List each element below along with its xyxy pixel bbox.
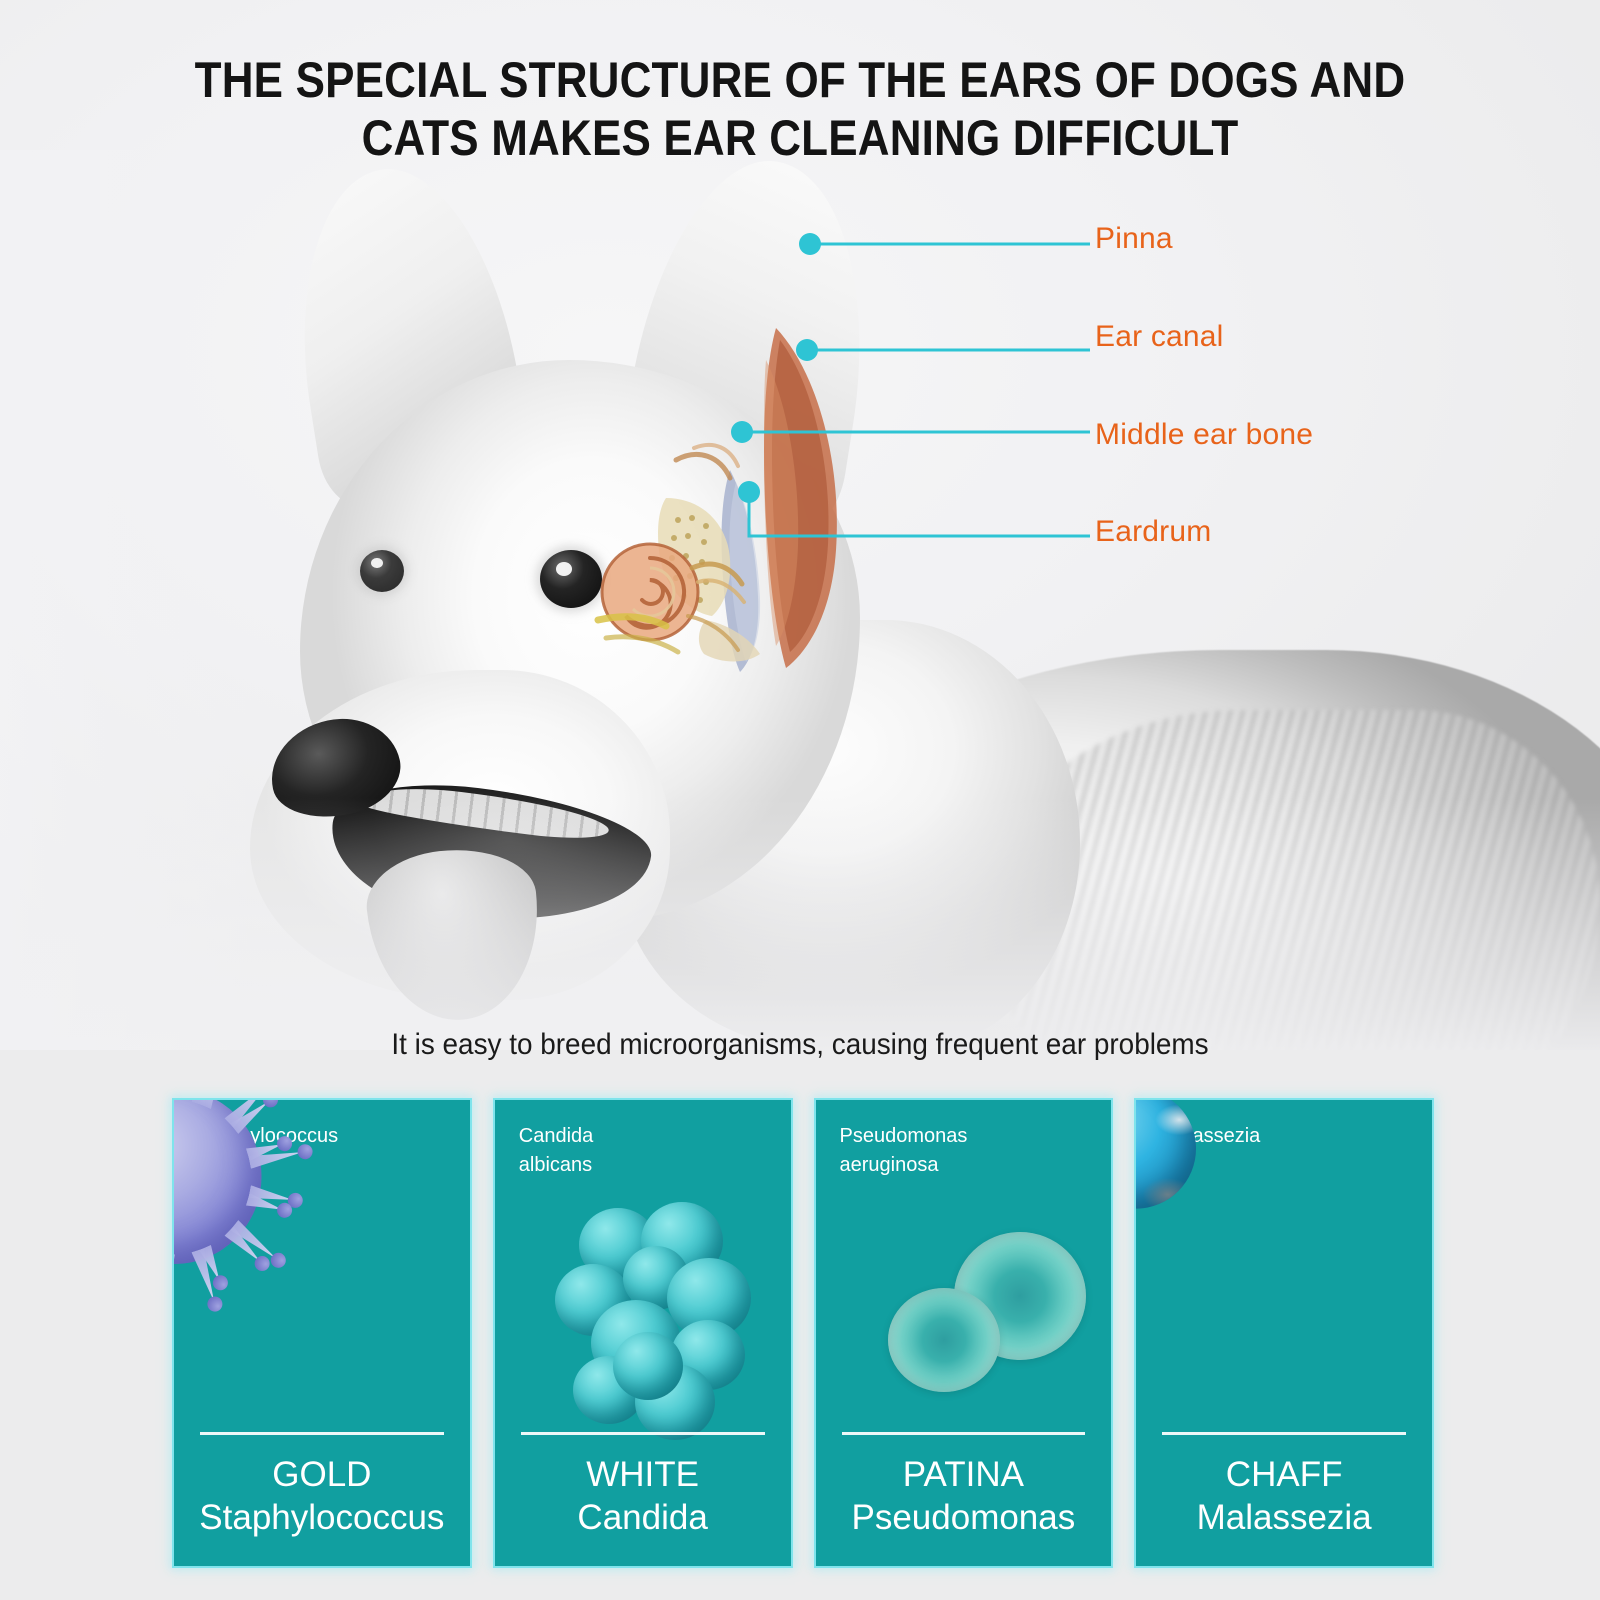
card-divider [1162, 1432, 1406, 1435]
card-pseudomonas[interactable]: Pseudomonas aeruginosa PATINA Pseudomona… [814, 1098, 1114, 1568]
callout-label-ear-canal: Ear canal [1095, 320, 1224, 354]
card-name-block: CHAFF Malassezia [1136, 1435, 1432, 1567]
textured-sphere-icon [1134, 1098, 1196, 1209]
ear-anatomy-overlay [580, 320, 910, 740]
virion-spike [172, 1203, 179, 1254]
card-divider [200, 1432, 444, 1435]
card-name-main: GOLD [184, 1453, 460, 1497]
card-artwork-staphylococcus [174, 1180, 470, 1432]
card-name-sub: Candida [505, 1496, 781, 1540]
bacterial-disc-icon [888, 1288, 1000, 1392]
page-title-line-1: THE SPECIAL STRUCTURE OF THE EARS OF DOG… [96, 52, 1504, 110]
dog-far-eye [360, 550, 404, 592]
callout-label-middle-ear-bone: Middle ear bone [1095, 418, 1313, 452]
card-artwork-pseudomonas [816, 1180, 1112, 1432]
card-scientific-name: Candida albicans [519, 1122, 791, 1180]
card-name-block: GOLD Staphylococcus [174, 1435, 470, 1567]
card-scientific-name: Pseudomonas aeruginosa [840, 1122, 1112, 1180]
card-name-block: PATINA Pseudomonas [816, 1435, 1112, 1567]
card-malassezia[interactable]: Malassezia CHAFF Malassezia [1134, 1098, 1434, 1568]
card-name-main: CHAFF [1146, 1453, 1422, 1497]
card-name-sub: Malassezia [1146, 1496, 1422, 1540]
card-name-sub: Pseudomonas [826, 1496, 1102, 1540]
card-name-main: WHITE [505, 1453, 781, 1497]
card-divider [521, 1432, 765, 1435]
card-candida[interactable]: Candida albicans WHITE Candida [493, 1098, 793, 1568]
microorganism-card-list: Staphylococcus aureus GOLD Staphylococcu… [172, 1098, 1434, 1568]
infographic-page: THE SPECIAL STRUCTURE OF THE EARS OF DOG… [0, 0, 1600, 1600]
card-staphylococcus[interactable]: Staphylococcus aureus GOLD Staphylococcu… [172, 1098, 472, 1568]
card-divider [842, 1432, 1086, 1435]
card-name-main: PATINA [826, 1453, 1102, 1497]
callout-label-pinna: Pinna [1095, 222, 1173, 256]
spiky-virion-icon [172, 1098, 262, 1264]
card-artwork-malassezia [1136, 1151, 1432, 1432]
card-name-block: WHITE Candida [495, 1435, 791, 1567]
callout-label-eardrum: Eardrum [1095, 515, 1211, 549]
dog-tongue [362, 842, 549, 1029]
section-caption: It is easy to breed microorganisms, caus… [56, 1028, 1544, 1062]
yeast-cell-icon [613, 1332, 683, 1400]
card-artwork-candida [495, 1180, 791, 1432]
dog-photo [0, 150, 1600, 1050]
card-scientific-name: Malassezia [1160, 1122, 1432, 1151]
card-name-sub: Staphylococcus [184, 1496, 460, 1540]
